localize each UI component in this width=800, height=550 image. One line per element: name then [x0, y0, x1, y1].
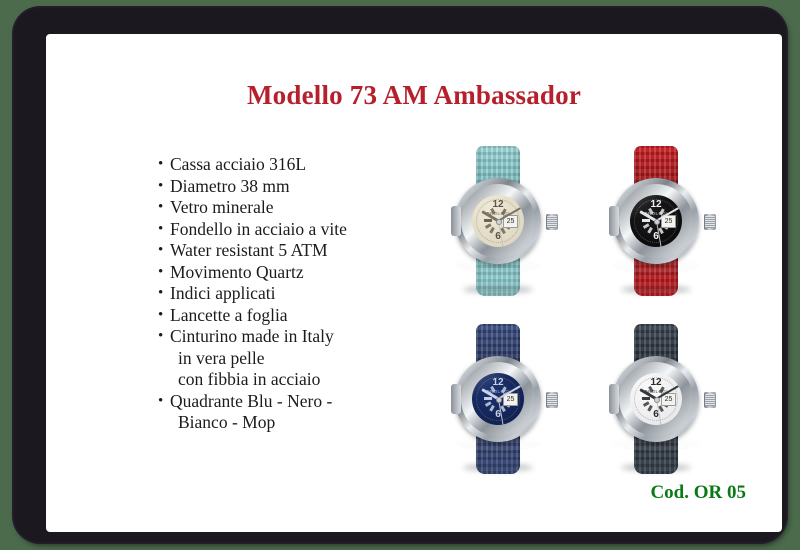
- spec-item: Fondello in acciaio a vite: [158, 219, 388, 241]
- spec-item: Lancette a foglia: [158, 305, 388, 327]
- numeral-12: 12: [472, 378, 524, 388]
- watch-dial: 126OROLOGI25: [630, 373, 682, 425]
- product-card-frame: Modello 73 AM Ambassador Cassa acciaio 3…: [14, 8, 786, 542]
- watch-case: 126OROLOGI25: [455, 356, 541, 442]
- watch-crown: [704, 214, 716, 230]
- watch-crown: [546, 214, 558, 230]
- watch-case: 126OROLOGI25: [613, 356, 699, 442]
- numeral-6: 6: [630, 410, 682, 420]
- watch-blue-navy[interactable]: 126OROLOGI25: [418, 316, 578, 496]
- watch-shadow: [463, 464, 533, 471]
- spec-item: Indici applicati: [158, 283, 388, 305]
- spec-item: Quadrante Blu - Nero -: [158, 391, 388, 413]
- spec-item-continuation: Bianco - Mop: [158, 412, 388, 434]
- watch-bezel: 126OROLOGI25: [461, 184, 535, 258]
- watch-mop-turquoise[interactable]: 126OROLOGI25: [418, 138, 578, 318]
- watch-body: 126OROLOGI25: [598, 146, 714, 296]
- spec-item: Movimento Quartz: [158, 262, 388, 284]
- watch-shadow: [621, 464, 691, 471]
- numeral-12: 12: [472, 200, 524, 210]
- spec-item-continuation: in vera pelle: [158, 348, 388, 370]
- spec-item: Diametro 38 mm: [158, 176, 388, 198]
- watch-white-slate[interactable]: 126OROLOGI25: [576, 316, 736, 496]
- spec-item: Vetro minerale: [158, 197, 388, 219]
- watch-dial: 126OROLOGI25: [472, 195, 524, 247]
- hands-pinion: [654, 219, 660, 225]
- hands-pinion: [654, 397, 660, 403]
- watch-shadow: [463, 286, 533, 293]
- watch-gallery: 126OROLOGI25126OROLOGI25126OROLOGI25126O…: [396, 138, 736, 498]
- numeral-6: 6: [472, 410, 524, 420]
- hands-pinion: [496, 397, 502, 403]
- watch-body: 126OROLOGI25: [440, 146, 556, 296]
- spec-item: Cinturino made in Italy: [158, 326, 388, 348]
- watch-body: 126OROLOGI25: [598, 324, 714, 474]
- numeral-12: 12: [630, 378, 682, 388]
- watch-bezel: 126OROLOGI25: [461, 362, 535, 436]
- watch-dial: 126OROLOGI25: [472, 373, 524, 425]
- watch-black-red[interactable]: 126OROLOGI25: [576, 138, 736, 318]
- watch-body: 126OROLOGI25: [440, 324, 556, 474]
- hands-pinion: [496, 219, 502, 225]
- spec-item: Water resistant 5 ATM: [158, 240, 388, 262]
- specification-list: Cassa acciaio 316LDiametro 38 mmVetro mi…: [158, 154, 388, 434]
- spec-item-continuation: con fibbia in acciaio: [158, 369, 388, 391]
- watch-crown: [546, 392, 558, 408]
- watch-shadow: [621, 286, 691, 293]
- watch-dial: 126OROLOGI25: [630, 195, 682, 247]
- numeral-6: 6: [630, 232, 682, 242]
- watch-bezel: 126OROLOGI25: [619, 184, 693, 258]
- watch-crown: [704, 392, 716, 408]
- numeral-12: 12: [630, 200, 682, 210]
- watch-case: 126OROLOGI25: [455, 178, 541, 264]
- numeral-6: 6: [472, 232, 524, 242]
- watch-bezel: 126OROLOGI25: [619, 362, 693, 436]
- spec-item: Cassa acciaio 316L: [158, 154, 388, 176]
- product-card-surface: Modello 73 AM Ambassador Cassa acciaio 3…: [46, 34, 782, 532]
- page-title: Modello 73 AM Ambassador: [46, 80, 782, 111]
- product-code: Cod. OR 05: [650, 482, 746, 504]
- watch-case: 126OROLOGI25: [613, 178, 699, 264]
